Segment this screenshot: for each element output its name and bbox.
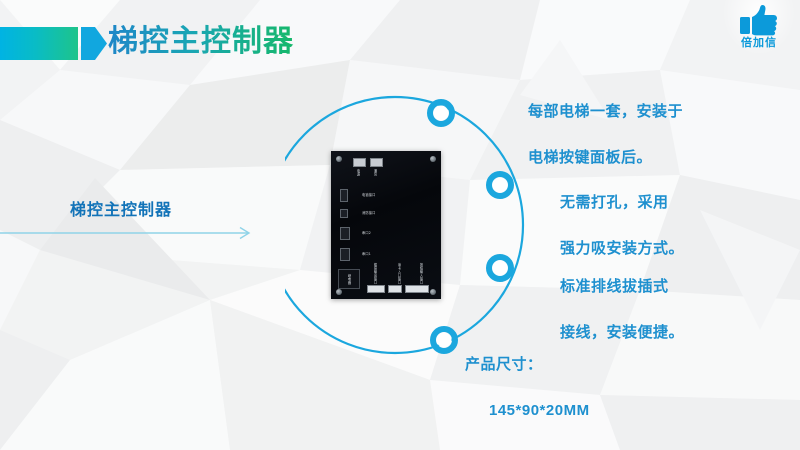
pcb-label-comm: 通讯 (373, 169, 377, 176)
pcb-screw-tr (430, 156, 436, 162)
pcb-screw-bl (336, 289, 342, 295)
note-line-1: 每部电梯一套，安装于 (528, 103, 683, 120)
pcb-label-lock-port: 电锁接口 (362, 193, 376, 197)
pcb-label-serial2: 串口2 (362, 231, 371, 235)
header-accent-bar (0, 27, 78, 60)
page-title: 梯控主控制器 (108, 22, 294, 62)
note-line-1: 产品尺寸： (465, 356, 543, 373)
pcb-label-power: 电源 (356, 169, 360, 176)
note-line-1: 无需打孔，采用 (560, 194, 669, 211)
pcb-serial1-connector (340, 248, 350, 261)
pcb-board: 电源 通讯 电锁接口 消防接口 串口2 串口1 继电器 楼层输出接口 读卡入口接… (331, 151, 441, 299)
note-line-2: 145*90*20MM (465, 399, 590, 422)
product-caption: 梯控主控制器 (70, 196, 172, 220)
pcb-screw-br (430, 289, 436, 295)
brand-logo: 倍加信 (728, 4, 790, 52)
pcb-label-relay: 继电器 (347, 274, 351, 285)
ring-node-3 (489, 257, 511, 279)
ring-node-2 (489, 174, 511, 196)
pcb-connector-floor (367, 285, 385, 293)
pcb-power-header (353, 158, 366, 167)
note-line-2: 电梯按键面板后。 (528, 149, 652, 166)
pcb-label-floor-output: 楼层输出接口 (373, 263, 377, 284)
pcb-label-button-input: 按钮输入接口 (419, 263, 423, 284)
slide-canvas: 梯控主控制器 倍加信 梯控主控制器 (0, 0, 800, 450)
pcb-serial2-connector (340, 227, 350, 240)
pcb-connector-card (388, 285, 402, 293)
header-chevron-icon (81, 27, 107, 60)
pcb-comm-header (370, 158, 383, 167)
product-image: 电源 通讯 电锁接口 消防接口 串口2 串口1 继电器 楼层输出接口 读卡入口接… (331, 151, 441, 299)
pcb-label-card-reader: 读卡入口接口 (397, 263, 401, 284)
pcb-lock-connector (340, 189, 348, 202)
logo-brand-name: 倍加信 (728, 37, 790, 49)
pcb-screw-tl (336, 156, 342, 162)
pcb-fire-connector (340, 209, 348, 218)
note-install-per-elevator: 每部电梯一套，安装于 电梯按键面板后。 (528, 77, 683, 169)
thumbs-up-icon (739, 4, 779, 36)
pointer-arrow-icon (0, 222, 260, 244)
note-line-1: 标准排线拔插式 (560, 278, 669, 295)
pcb-label-fire-port: 消防接口 (362, 211, 376, 215)
note-product-size: 产品尺寸： 145*90*20MM (465, 330, 590, 445)
pcb-connector-button (405, 285, 429, 293)
pcb-label-serial1: 串口1 (362, 252, 371, 256)
note-no-drilling: 无需打孔，采用 强力吸安装方式。 (560, 168, 684, 260)
